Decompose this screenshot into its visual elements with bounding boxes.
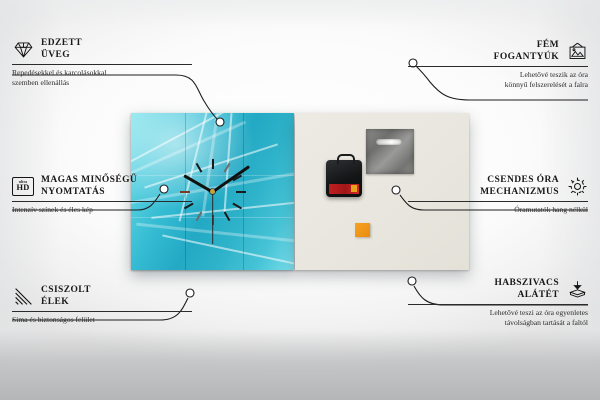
feature-rule [12,311,192,312]
clock-mechanism [326,160,362,197]
gear-icon [566,176,588,198]
second-hand [212,192,213,244]
feature-edzett-uveg: EDZETTÜVEG Repedésekkel és karcolásokkal… [12,38,192,87]
feature-rule [408,66,588,67]
feature-rule [408,304,588,305]
feature-habszivacs-alatet: HABSZIVACSALÁTÉT Lehetővé teszi az óra e… [408,278,588,327]
hd-label: HD [17,184,30,192]
feature-rule [12,64,192,65]
clock-center-pin [210,189,215,194]
feature-desc: Lehetővé teszi az óra egyenletestávolság… [408,308,588,327]
feature-magas-minosegu-nyomtatas: ultra HD MAGAS MINŐSÉGŰNYOMTATÁS Intenzí… [12,175,192,215]
polished-edges-icon [12,286,34,308]
top-vignette [0,0,600,26]
feature-desc: Intenzív színek és éles kép [12,205,192,215]
feature-title: MAGAS MINŐSÉGŰNYOMTATÁS [41,175,137,198]
feature-title: CSISZOLTÉLEK [41,285,91,308]
feature-head: FÉMFOGANTYÚK [408,40,588,63]
feature-rule [408,201,588,202]
minute-hand [212,165,250,193]
feature-head: HABSZIVACSALÁTÉT [408,278,588,301]
mechanism-loop [337,154,355,164]
feature-head: ultra HD MAGAS MINŐSÉGŰNYOMTATÁS [12,175,192,198]
foam-pad-icon [566,279,588,301]
feature-csiszolt-elek: CSISZOLTÉLEK Sima és biztonságos felület [12,285,192,325]
feature-desc: Sima és biztonságos felület [12,315,192,325]
feature-title: HABSZIVACSALÁTÉT [494,278,559,301]
foam-pad [355,223,370,237]
ultra-hd-icon: ultra HD [12,176,34,198]
feature-rule [12,201,192,202]
feature-title: EDZETTÜVEG [41,38,82,61]
hanger-slot [376,139,402,145]
feature-title: CSENDES ÓRAMECHANIZMUS [480,175,559,198]
infographic-stage: EDZETTÜVEG Repedésekkel és karcolásokkal… [0,0,600,400]
feature-head: EDZETTÜVEG [12,38,192,61]
feature-desc: Lehetővé teszik az órakönnyű felszerelés… [408,70,588,89]
battery [329,184,359,194]
feature-title: FÉMFOGANTYÚK [494,40,559,63]
feature-desc: Óramutatók hang nélkül [408,205,588,215]
wall-hanger-icon [566,41,588,63]
feature-head: CSISZOLTÉLEK [12,285,192,308]
feature-fem-fogantyuk: FÉMFOGANTYÚK Lehetővé teszik az órakönny… [408,40,588,89]
metal-hanger [366,129,414,174]
feature-desc: Repedésekkel és karcolásokkalszemben ell… [12,68,192,87]
bottom-vignette [0,330,600,400]
feature-head: CSENDES ÓRAMECHANIZMUS [408,175,588,198]
diamond-icon [12,39,34,61]
feature-csendes-ora-mechanizmus: CSENDES ÓRAMECHANIZMUS Óramutatók hang n… [408,175,588,215]
